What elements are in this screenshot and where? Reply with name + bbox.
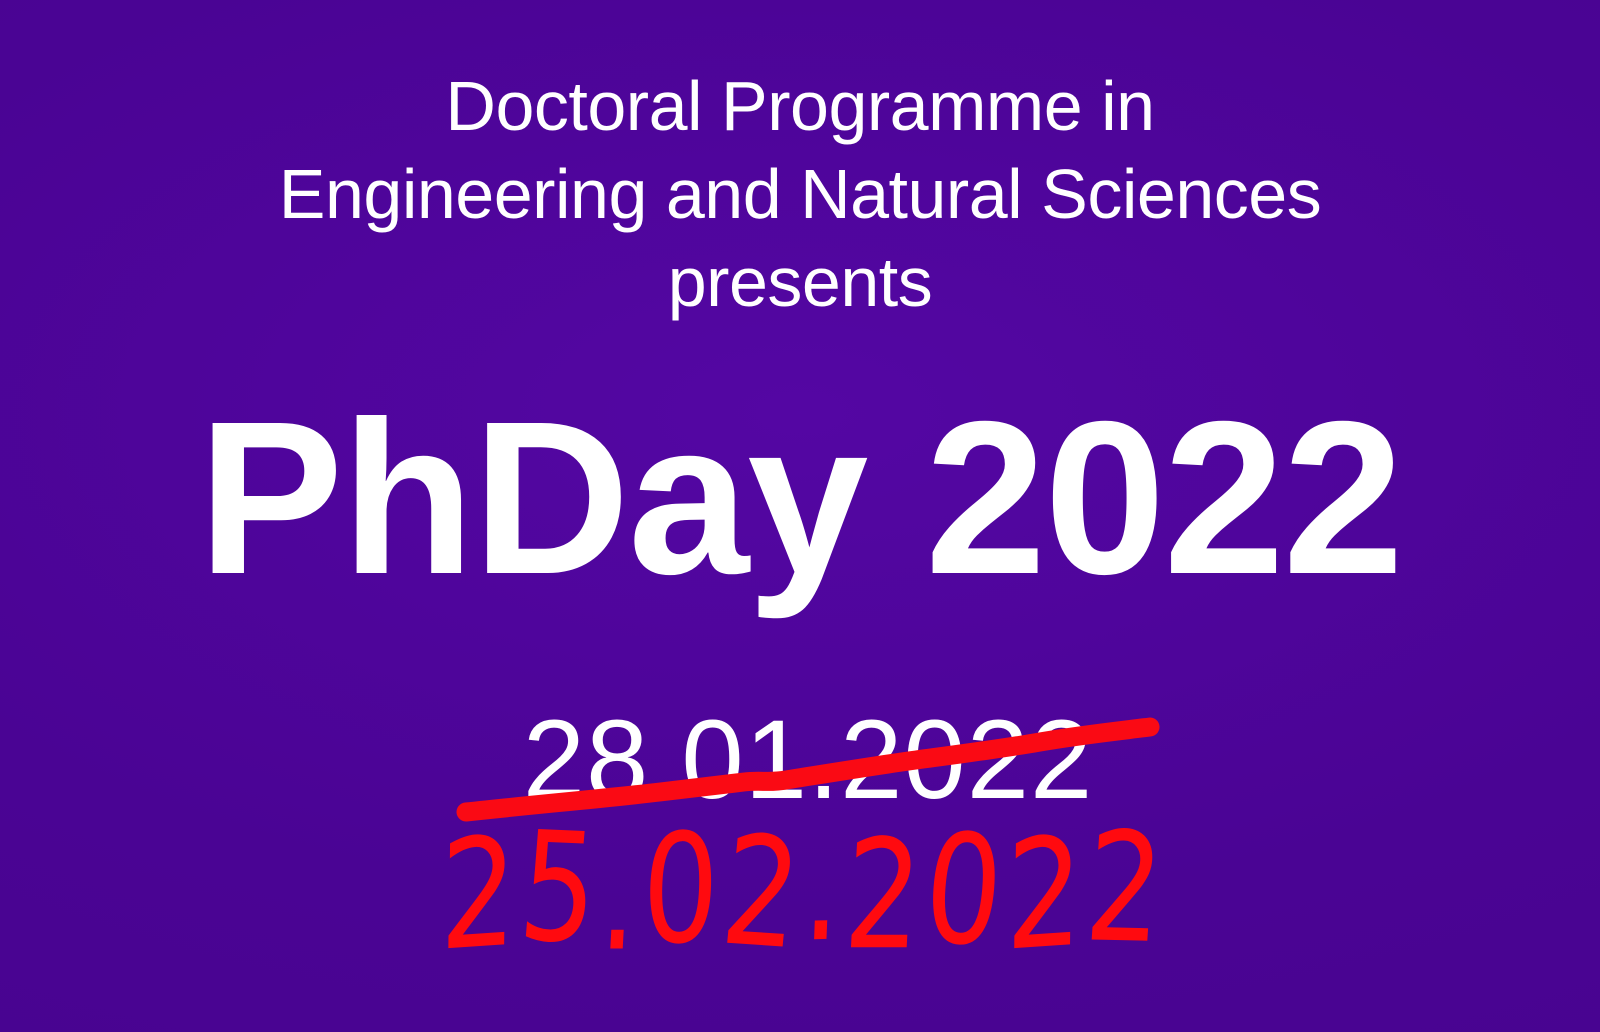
header-line-2: Engineering and Natural Sciences	[0, 150, 1600, 238]
new-date-text: 25.02.2022	[47, 816, 1559, 969]
event-title: PhDay 2022	[0, 390, 1600, 608]
header-line-3: presents	[0, 238, 1600, 326]
new-date-glyph: 2	[1081, 812, 1171, 967]
phday-poster: Doctoral Programme in Engineering and Na…	[0, 0, 1600, 1032]
date-block: 28.01.2022 25.02.2022	[0, 700, 1600, 1000]
new-date-glyph: 2	[439, 816, 521, 974]
new-date-glyph: 0	[640, 812, 724, 969]
new-date-glyph: 0	[919, 813, 1011, 970]
new-date-glyph: 2	[1005, 816, 1087, 974]
new-date-glyph: 5	[514, 811, 606, 968]
new-date-glyph: 2	[841, 820, 929, 973]
new-date-glyph: .	[800, 811, 848, 965]
header-line-1: Doctoral Programme in	[0, 62, 1600, 150]
new-date-glyph: 2	[716, 815, 810, 973]
old-date-text: 28.01.2022	[8, 700, 1600, 820]
new-date-glyph: .	[596, 821, 646, 974]
poster-header: Doctoral Programme in Engineering and Na…	[0, 62, 1600, 326]
